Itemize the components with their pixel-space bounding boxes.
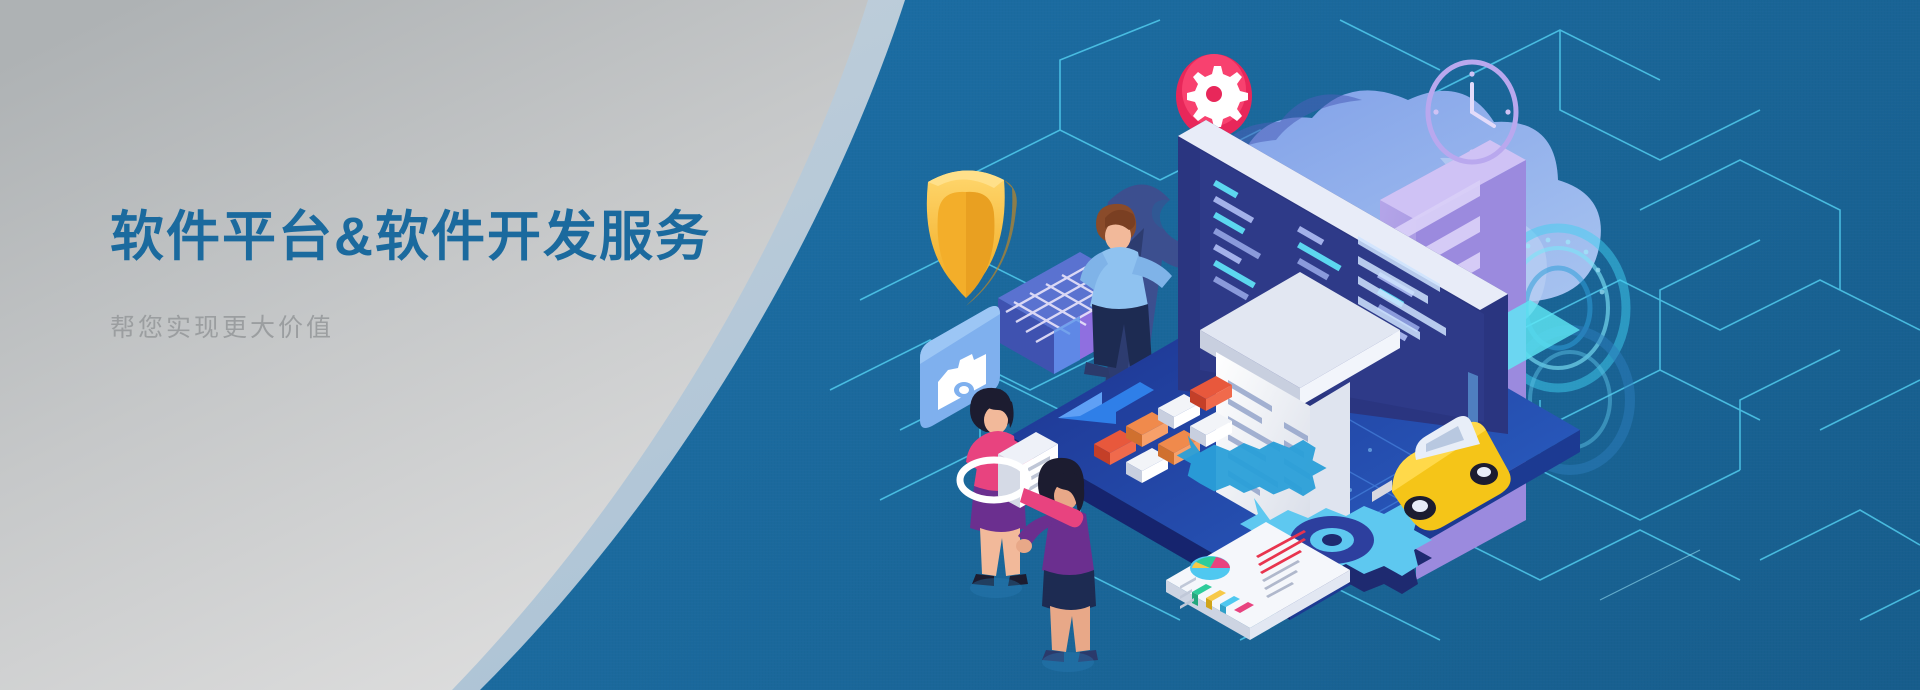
grey-curve-panel xyxy=(0,0,1920,690)
hero-banner: 软件平台&软件开发服务 帮您实现更大价值 xyxy=(0,0,1920,690)
page-title: 软件平台&软件开发服务 xyxy=(110,206,830,270)
text-block: 软件平台&软件开发服务 帮您实现更大价值 xyxy=(110,206,830,344)
page-subtitle: 帮您实现更大价值 xyxy=(110,308,830,344)
